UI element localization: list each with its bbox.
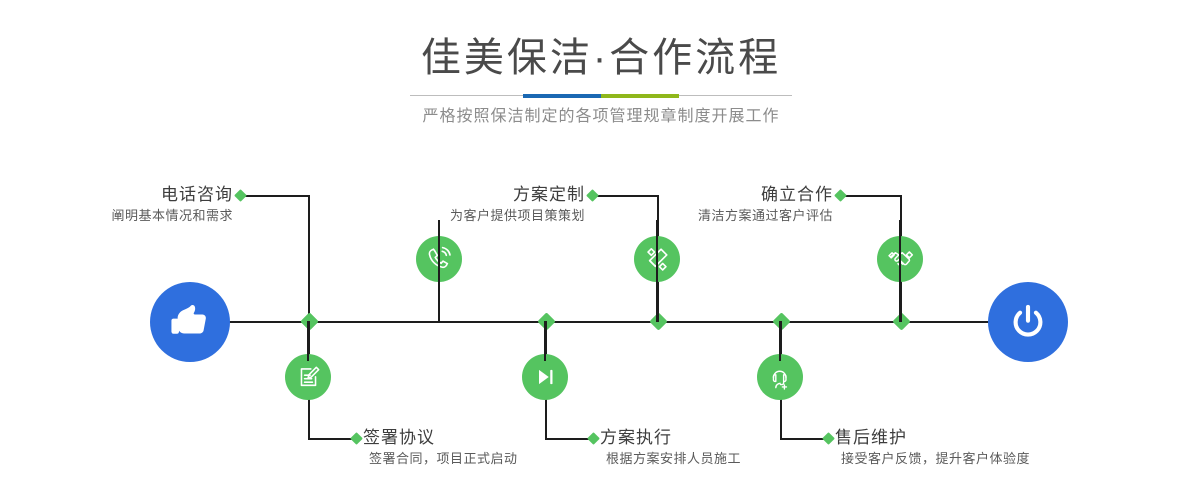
thumbs-up-icon xyxy=(168,300,212,344)
connector-vertical-1 xyxy=(308,195,310,322)
connector-tip-2 xyxy=(350,432,363,445)
connector-icon-stem-4 xyxy=(544,321,546,361)
step-desc-1: 阐明基本情况和需求 xyxy=(40,206,233,226)
timeline-end-node[interactable] xyxy=(988,282,1068,362)
step-title-6: 售后维护 xyxy=(835,427,1175,449)
connector-tip-1 xyxy=(234,189,247,202)
connector-icon-stem-6 xyxy=(779,321,781,361)
step-title-3: 方案定制 xyxy=(380,184,585,206)
step-title-1: 电话咨询 xyxy=(40,184,233,206)
page-title: 佳美保洁·合作流程 xyxy=(0,34,1202,82)
step-title-5: 确立合作 xyxy=(625,184,833,206)
connector-tip-5 xyxy=(834,189,847,202)
step-desc-5: 清洁方案通过客户评估 xyxy=(625,206,833,226)
play-execute-icon xyxy=(533,365,557,389)
sign-document-icon xyxy=(296,365,321,390)
step-label-1: 电话咨询 阐明基本情况和需求 xyxy=(40,184,233,226)
divider-blue-segment xyxy=(523,94,601,98)
page-header: 佳美保洁·合作流程 严格按照保洁制定的各项管理规章制度开展工作 xyxy=(0,0,1202,150)
connector-horizontal-1 xyxy=(240,195,310,197)
power-icon xyxy=(1006,300,1050,344)
connector-icon-stem-2 xyxy=(307,321,309,361)
page-subtitle: 严格按照保洁制定的各项管理规章制度开展工作 xyxy=(0,105,1202,129)
step-label-6: 售后维护 接受客户反馈，提升客户体验度 xyxy=(835,427,1175,469)
connector-horizontal-5 xyxy=(840,195,902,197)
process-timeline: 电话咨询 阐明基本情况和需求 签署协议 签署合同，项目正式启动 xyxy=(0,150,1202,502)
step-label-5: 确立合作 清洁方案通过客户评估 xyxy=(625,184,833,226)
connector-icon-stem-5 xyxy=(899,220,901,322)
title-divider xyxy=(410,94,792,98)
timeline-start-node[interactable] xyxy=(150,282,230,362)
connector-icon-stem-1 xyxy=(438,220,440,322)
step-label-3: 方案定制 为客户提供项目策策划 xyxy=(380,184,585,226)
divider-right-rule xyxy=(679,95,792,96)
step-desc-3: 为客户提供项目策策划 xyxy=(380,206,585,226)
customer-support-add-icon xyxy=(768,365,793,390)
divider-green-segment xyxy=(601,94,679,98)
connector-icon-stem-3 xyxy=(656,220,658,322)
divider-left-rule xyxy=(410,95,523,96)
connector-tip-3 xyxy=(586,189,599,202)
step-desc-6: 接受客户反馈，提升客户体验度 xyxy=(841,449,1175,469)
